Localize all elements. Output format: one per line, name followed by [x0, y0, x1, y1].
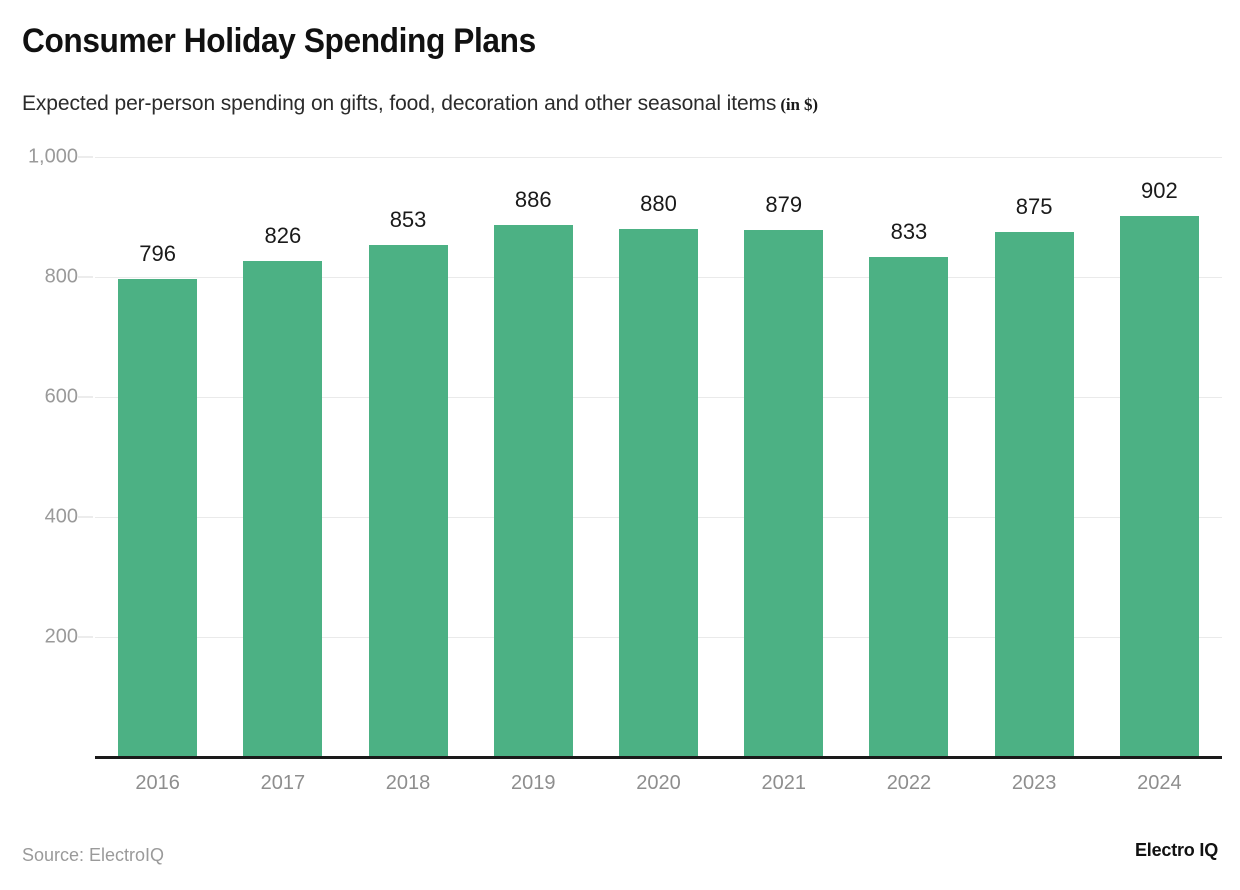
plot-area: 796826853886880879833875902	[95, 157, 1222, 757]
bar[interactable]	[619, 229, 698, 757]
bar[interactable]	[118, 279, 197, 757]
bar-value-label: 796	[139, 241, 176, 267]
bar-group[interactable]: 853	[369, 157, 448, 757]
x-axis-tick-label: 2020	[596, 772, 721, 795]
chart-card: Consumer Holiday Spending Plans Expected…	[0, 0, 1240, 890]
y-axis-tick-mark	[78, 277, 93, 278]
bar-value-label: 875	[1016, 194, 1053, 220]
y-axis-tick-mark	[78, 517, 93, 518]
x-axis-tick-label: 2024	[1097, 772, 1222, 795]
chart-subtitle-text: Expected per-person spending on gifts, f…	[22, 92, 776, 115]
bar-value-label: 826	[264, 223, 301, 249]
y-axis-tick-mark	[78, 637, 93, 638]
bar-value-label: 880	[640, 191, 677, 217]
bar[interactable]	[1120, 216, 1199, 757]
bar[interactable]	[494, 225, 573, 757]
x-axis-tick-label: 2017	[220, 772, 345, 795]
chart-subtitle: Expected per-person spending on gifts, f…	[22, 92, 818, 116]
bar-value-label: 879	[765, 192, 802, 218]
y-axis-tick-label: 600	[0, 386, 78, 409]
bar-group[interactable]: 796	[118, 157, 197, 757]
bar-group[interactable]: 902	[1120, 157, 1199, 757]
bar[interactable]	[744, 230, 823, 757]
x-axis-tick-label: 2019	[471, 772, 596, 795]
y-axis-tick-label: 1,000	[0, 146, 78, 169]
chart-units-note: (in $)	[776, 95, 818, 114]
x-axis-tick-label: 2022	[846, 772, 971, 795]
bar-value-label: 886	[515, 187, 552, 213]
x-axis-tick-label: 2016	[95, 772, 220, 795]
bar-value-label: 853	[390, 207, 427, 233]
x-axis-tick-label: 2023	[972, 772, 1097, 795]
bar[interactable]	[869, 257, 948, 757]
chart-title: Consumer Holiday Spending Plans	[22, 22, 536, 61]
bar-group[interactable]: 833	[869, 157, 948, 757]
bar-value-label: 902	[1141, 178, 1178, 204]
bar-group[interactable]: 880	[619, 157, 698, 757]
y-axis-tick-mark	[78, 157, 93, 158]
bar-group[interactable]: 826	[243, 157, 322, 757]
y-axis-tick-label: 200	[0, 626, 78, 649]
x-axis-tick-label: 2018	[345, 772, 470, 795]
y-axis-tick-mark	[78, 397, 93, 398]
bar[interactable]	[243, 261, 322, 757]
bar-value-label: 833	[891, 219, 928, 245]
y-axis-tick-label: 800	[0, 266, 78, 289]
x-axis-baseline	[95, 756, 1222, 759]
bar-group[interactable]: 875	[995, 157, 1074, 757]
x-axis-tick-label: 2021	[721, 772, 846, 795]
brand-logo: Electro IQ	[1135, 840, 1218, 861]
bar[interactable]	[369, 245, 448, 757]
bar[interactable]	[995, 232, 1074, 757]
source-note: Source: ElectroIQ	[22, 845, 164, 866]
bar-group[interactable]: 879	[744, 157, 823, 757]
bar-group[interactable]: 886	[494, 157, 573, 757]
y-axis-tick-label: 400	[0, 506, 78, 529]
